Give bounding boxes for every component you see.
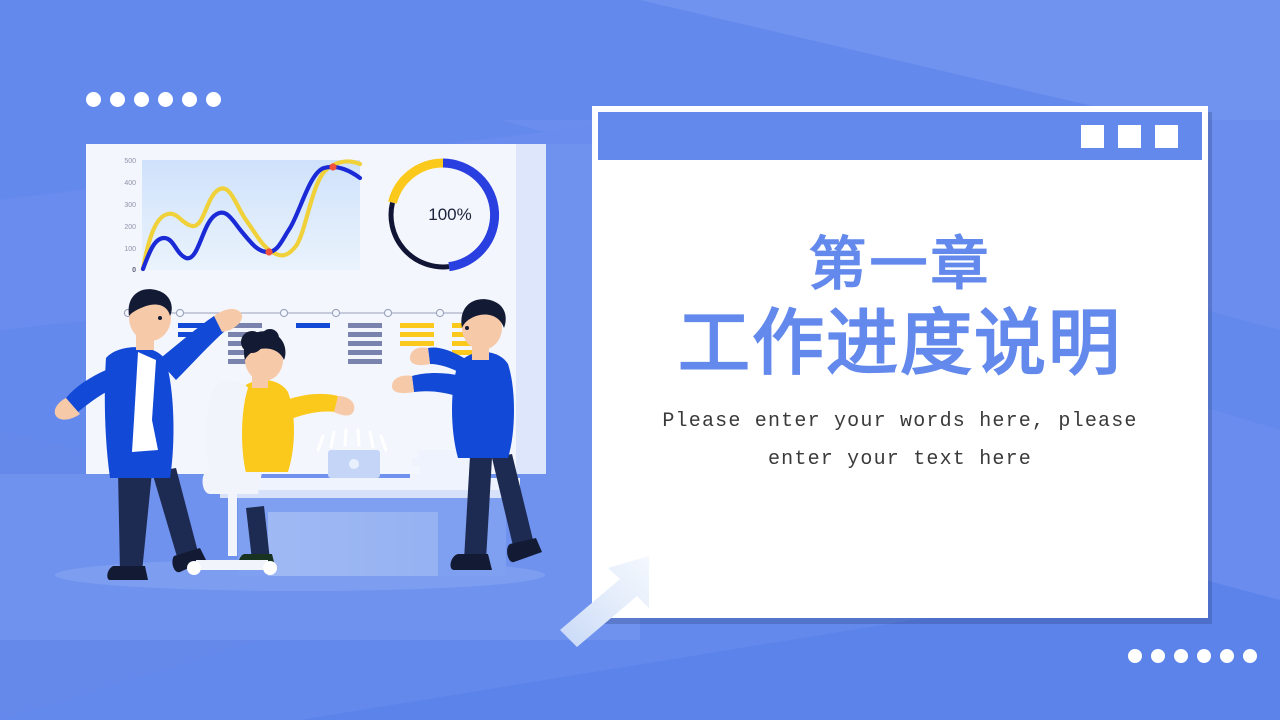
svg-text:300: 300 xyxy=(124,202,136,209)
decor-dot xyxy=(1151,649,1165,663)
page-title: 工作进度说明 xyxy=(678,301,1122,387)
decor-dot xyxy=(158,92,173,107)
decor-dot xyxy=(134,92,149,107)
teamwork-illustration: 500 400 300 200 100 0 100% xyxy=(0,120,640,640)
subtitle-line-1: Please enter your words here, please xyxy=(662,410,1137,433)
svg-text:0: 0 xyxy=(132,267,136,274)
svg-text:100: 100 xyxy=(124,246,136,253)
titlebar-square-icon[interactable] xyxy=(1118,125,1141,148)
card-body: 第一章 工作进度说明 Please enter your words here,… xyxy=(598,160,1202,612)
card-titlebar xyxy=(598,112,1202,160)
decor-dot xyxy=(206,92,221,107)
slide-canvas: 500 400 300 200 100 0 100% xyxy=(0,0,1280,720)
donut-center-label: 100% xyxy=(428,205,471,224)
intersection-marker xyxy=(329,163,336,170)
titlebar-square-icon[interactable] xyxy=(1081,125,1104,148)
decor-dot xyxy=(1128,649,1142,663)
svg-text:200: 200 xyxy=(124,224,136,231)
decor-dot xyxy=(1174,649,1188,663)
svg-text:500: 500 xyxy=(124,158,136,165)
subtitle-line-2: enter your text here xyxy=(768,448,1032,471)
decor-dot xyxy=(1197,649,1211,663)
laptop xyxy=(328,450,380,478)
chapter-label: 第一章 xyxy=(808,234,991,297)
decor-dot xyxy=(1243,649,1257,663)
decor-dot xyxy=(86,92,101,107)
decor-dot xyxy=(110,92,125,107)
decor-dot xyxy=(1220,649,1234,663)
decor-dots-bottom-right xyxy=(1128,649,1257,663)
svg-text:400: 400 xyxy=(124,180,136,187)
line-chart: 500 400 300 200 100 0 xyxy=(124,158,360,274)
content-card: 第一章 工作进度说明 Please enter your words here,… xyxy=(592,106,1208,618)
decor-dot xyxy=(182,92,197,107)
subtitle-text: Please enter your words here, please ent… xyxy=(662,403,1137,479)
arrow-pointer-icon xyxy=(552,548,662,653)
intersection-marker xyxy=(265,248,272,255)
decor-dots-top-left xyxy=(86,92,221,107)
titlebar-square-icon[interactable] xyxy=(1155,125,1178,148)
